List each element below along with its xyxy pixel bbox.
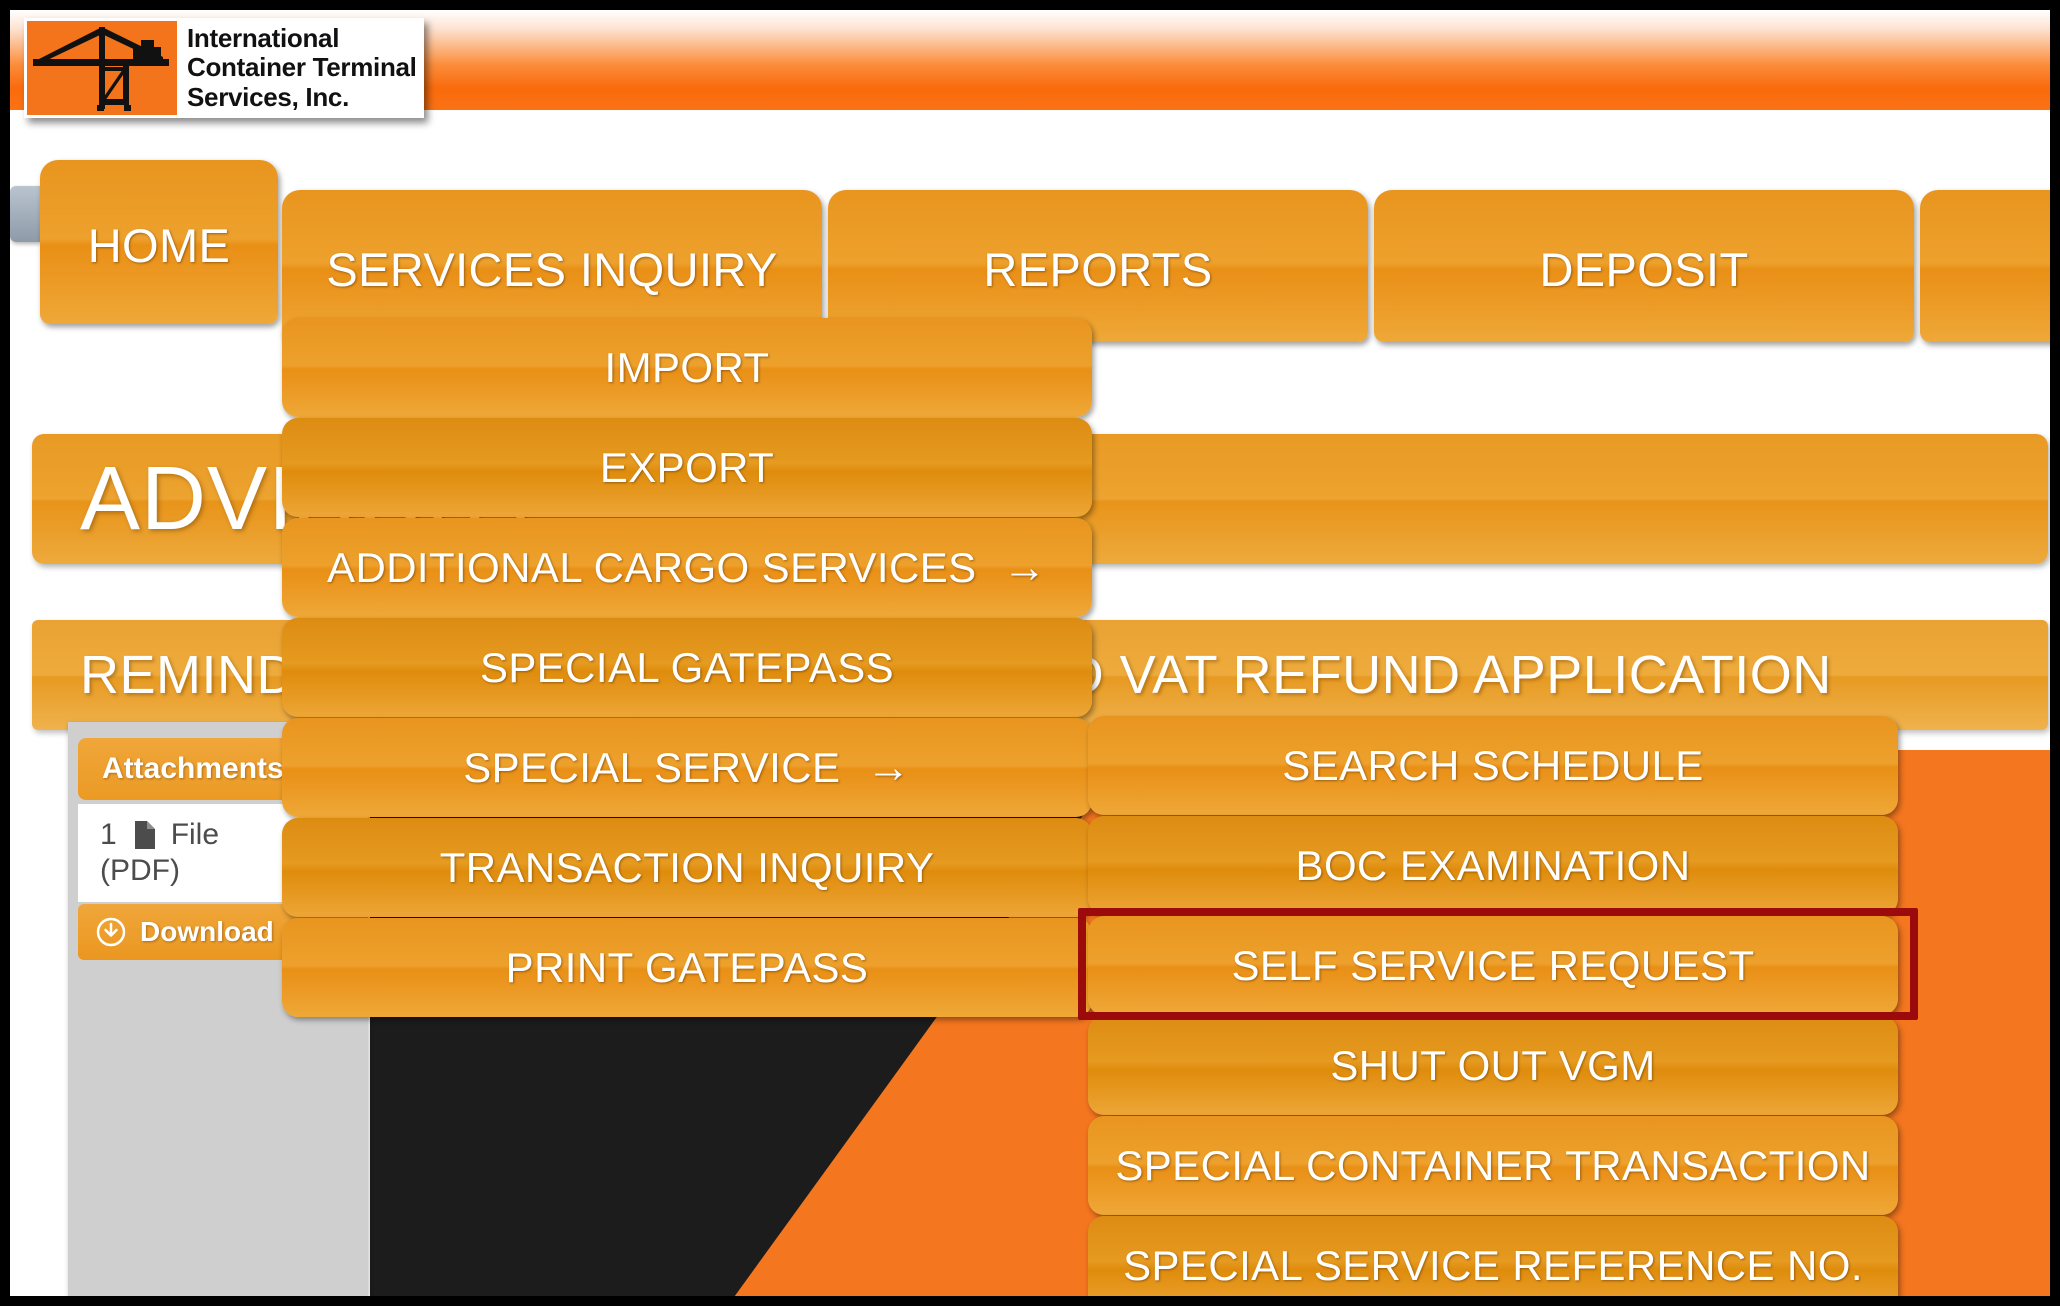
nav-item-home[interactable]: HOME (40, 160, 278, 324)
logo-line-3: Services, Inc. (187, 83, 421, 113)
menu-item-label: PRINT GATEPASS (506, 944, 869, 992)
main-navigation: HOME SERVICES INQUIRY REPORTS DEPOSIT (10, 138, 2050, 278)
submenu-item-special-container-transaction[interactable]: SPECIAL CONTAINER TRANSACTION (1088, 1116, 1898, 1215)
menu-item-import[interactable]: IMPORT (282, 318, 1092, 417)
menu-item-label: EXPORT (600, 444, 774, 492)
menu-item-special-service[interactable]: SPECIAL SERVICE → (282, 718, 1092, 817)
menu-item-print-gatepass[interactable]: PRINT GATEPASS (282, 918, 1092, 1017)
submenu-item-self-service-request[interactable]: SELF SERVICE REQUEST (1088, 916, 1898, 1015)
submenu-item-special-service-reference-no[interactable]: SPECIAL SERVICE REFERENCE NO. (1088, 1216, 1898, 1296)
submenu-item-label: SHUT OUT VGM (1330, 1042, 1655, 1090)
company-logo[interactable]: International Container Terminal Service… (24, 18, 424, 118)
browser-screenshot: International Container Terminal Service… (0, 0, 2060, 1306)
attachments-header-label: Attachments (102, 752, 284, 786)
menu-item-transaction-inquiry[interactable]: TRANSACTION INQUIRY (282, 818, 1092, 917)
file-icon (133, 821, 155, 849)
submenu-item-search-schedule[interactable]: SEARCH SCHEDULE (1088, 716, 1898, 815)
menu-item-label: TRANSACTION INQUIRY (440, 844, 935, 892)
submenu-item-label: SELF SERVICE REQUEST (1231, 942, 1754, 990)
page-canvas: International Container Terminal Service… (10, 10, 2050, 1296)
menu-item-additional-cargo-services[interactable]: ADDITIONAL CARGO SERVICES → (282, 518, 1092, 617)
submenu-item-label: SPECIAL CONTAINER TRANSACTION (1115, 1142, 1870, 1190)
attachment-file-label: File (171, 818, 219, 852)
submenu-item-label: BOC EXAMINATION (1296, 842, 1691, 890)
logo-line-1: International (187, 24, 421, 54)
menu-item-special-gatepass[interactable]: SPECIAL GATEPASS (282, 618, 1092, 717)
logo-line-2: Container Terminal (187, 53, 421, 83)
nav-item-deposit[interactable]: DEPOSIT (1374, 190, 1914, 342)
menu-item-label: IMPORT (605, 344, 770, 392)
menu-item-export[interactable]: EXPORT (282, 418, 1092, 517)
menu-item-label: SPECIAL GATEPASS (480, 644, 894, 692)
nav-item-overflow[interactable] (1920, 190, 2050, 342)
services-inquiry-dropdown: IMPORT EXPORT ADDITIONAL CARGO SERVICES … (282, 318, 1092, 1018)
menu-item-label: ADDITIONAL CARGO SERVICES (327, 544, 976, 592)
crane-icon (27, 21, 175, 115)
submenu-item-label: SPECIAL SERVICE REFERENCE NO. (1123, 1242, 1863, 1290)
download-icon (96, 917, 126, 947)
submenu-item-label: SEARCH SCHEDULE (1282, 742, 1703, 790)
attachment-count: 1 (100, 818, 117, 852)
logo-wordmark: International Container Terminal Service… (175, 21, 421, 115)
submenu-item-boc-examination[interactable]: BOC EXAMINATION (1088, 816, 1898, 915)
arrow-right-icon: → (1003, 546, 1047, 590)
special-service-submenu: SEARCH SCHEDULE BOC EXAMINATION SELF SER… (1088, 716, 1898, 1296)
arrow-right-icon: → (866, 746, 910, 790)
submenu-item-shut-out-vgm[interactable]: SHUT OUT VGM (1088, 1016, 1898, 1115)
menu-item-label: SPECIAL SERVICE (463, 744, 840, 792)
download-label: Download (140, 916, 274, 948)
